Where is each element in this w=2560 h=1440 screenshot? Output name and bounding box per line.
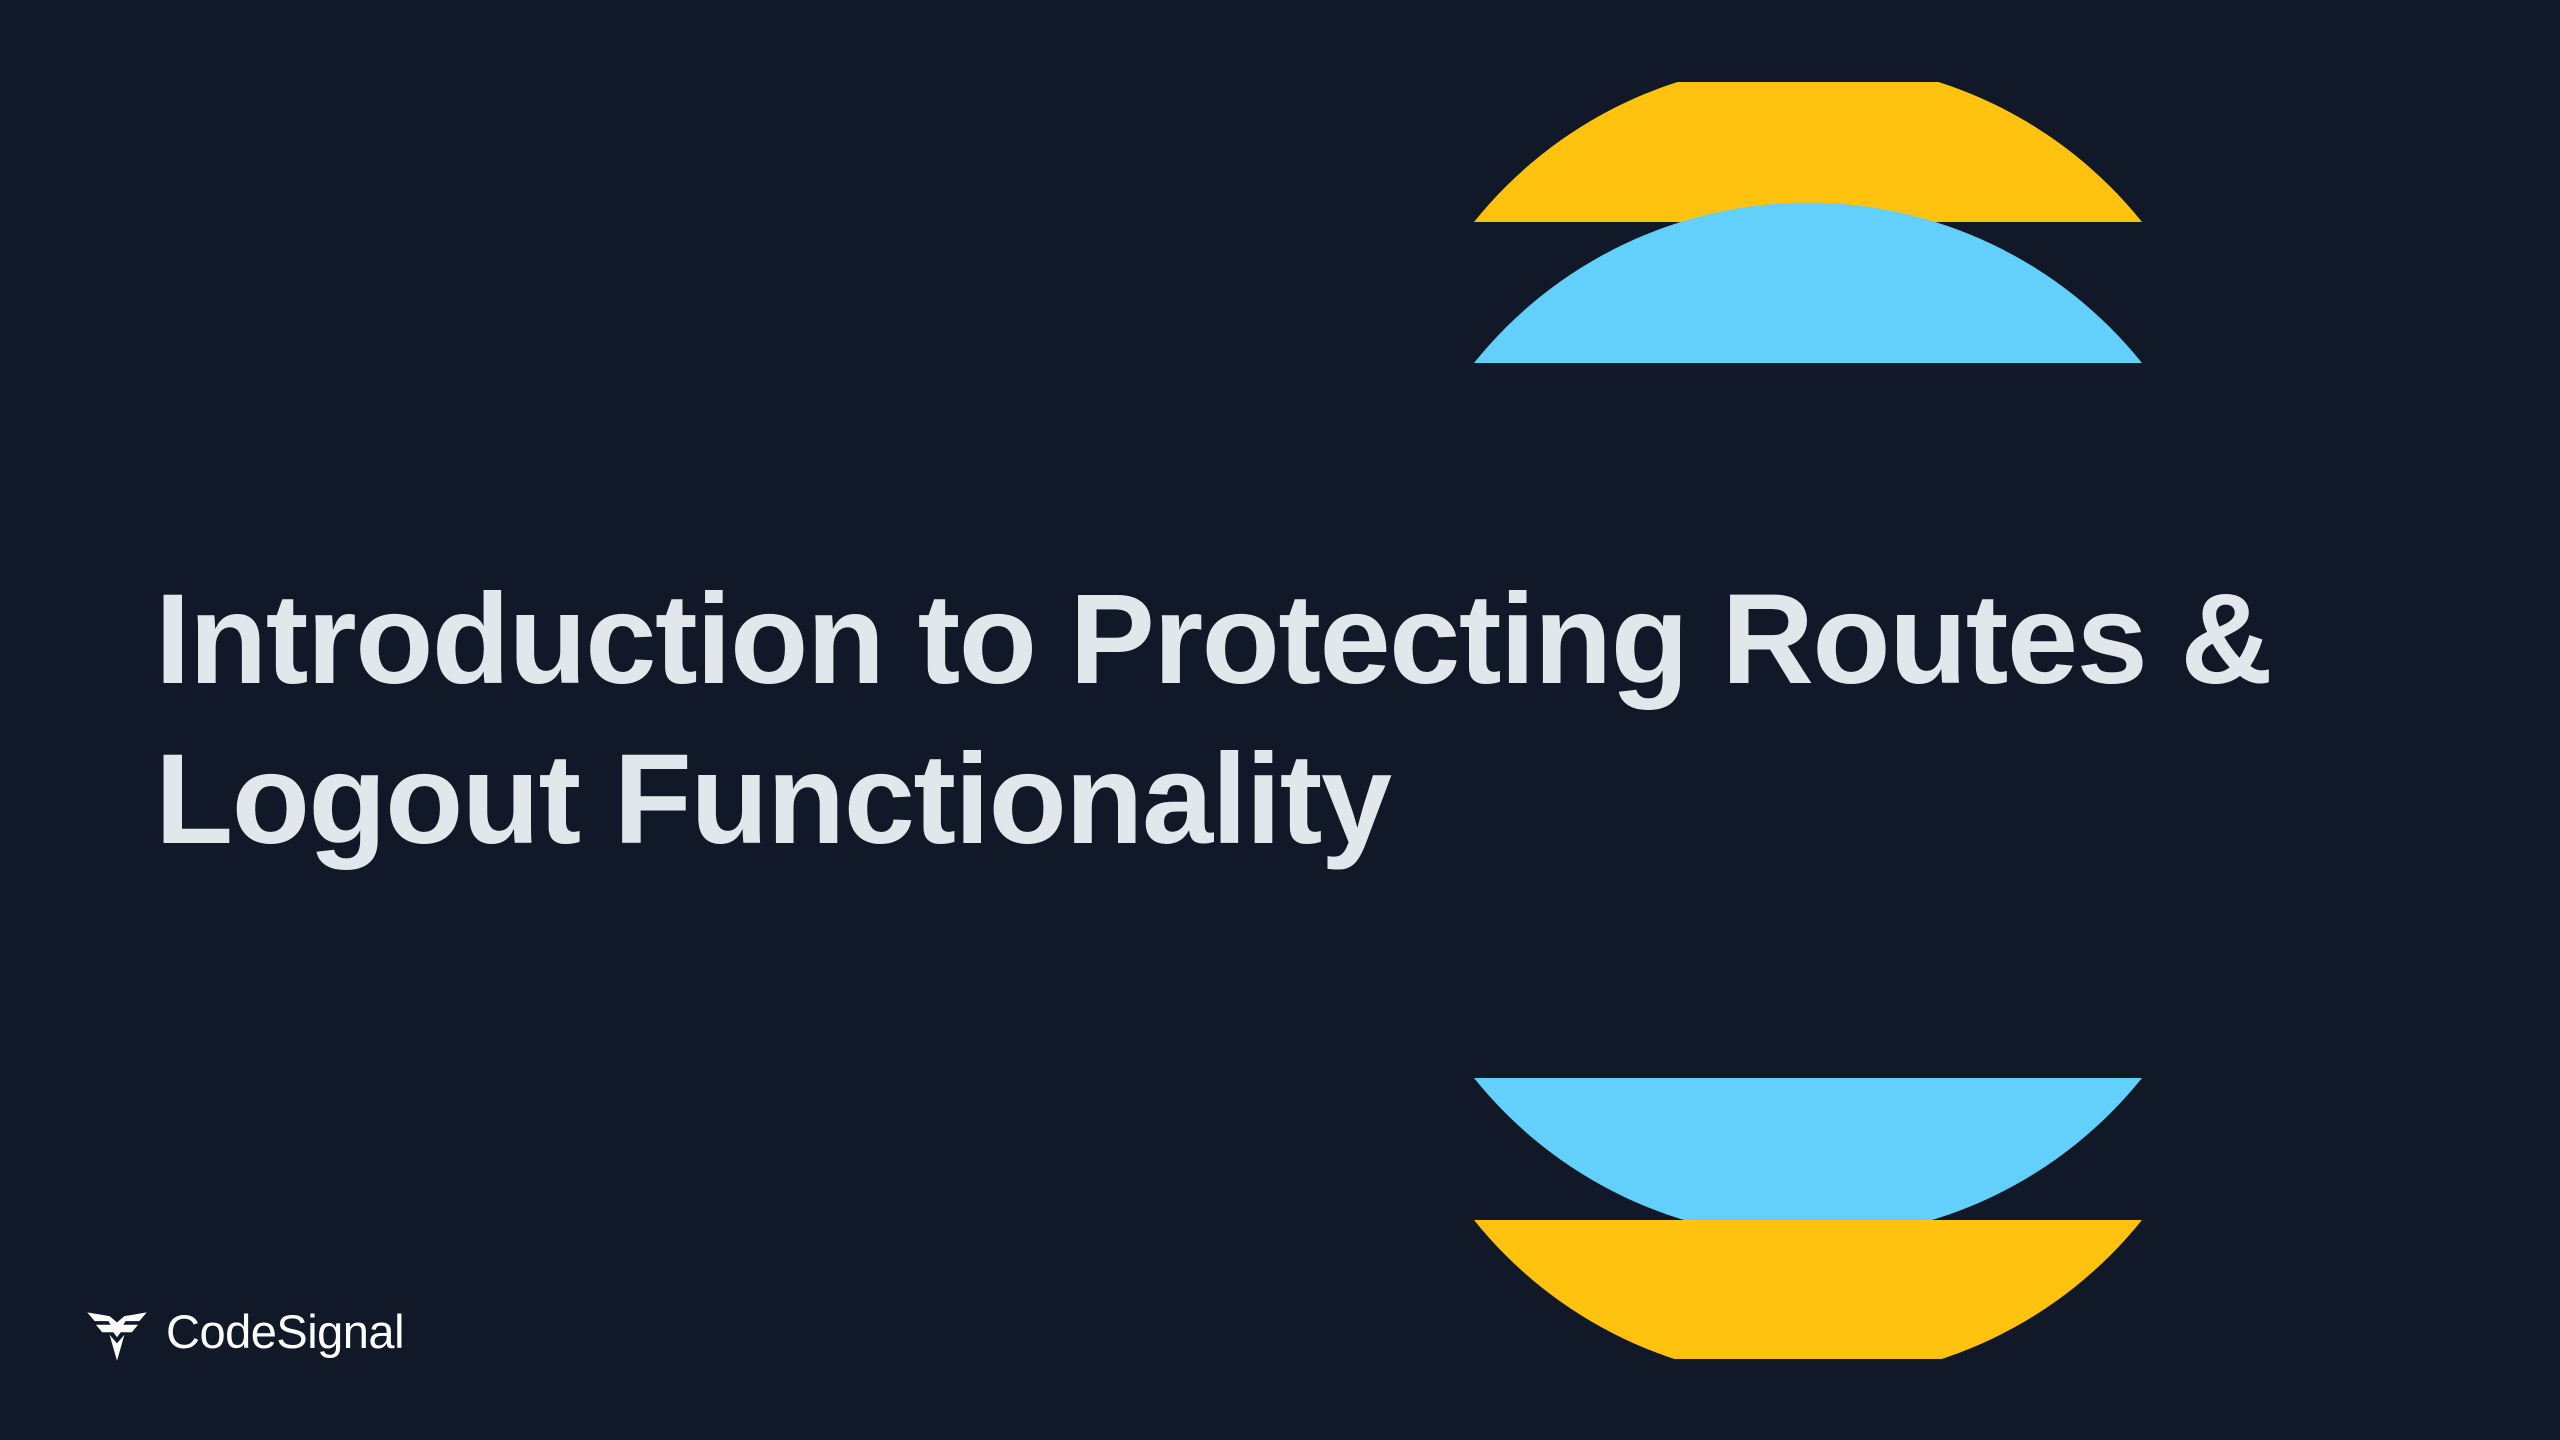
brand-lockup: CodeSignal: [86, 1300, 404, 1362]
title-block: Introduction to Protecting Routes & Logo…: [155, 560, 2335, 880]
blue-bowl-arc: [1474, 1078, 2142, 1238]
yellow-bowl-arc: [1474, 1220, 2142, 1359]
decoration-top-right: [1474, 82, 2142, 364]
decoration-bottom-right: [1474, 1078, 2142, 1359]
codesignal-wings-icon: [86, 1300, 148, 1362]
yellow-dome-arc: [1474, 82, 2142, 222]
slide-title: Introduction to Protecting Routes & Logo…: [155, 560, 2335, 880]
brand-wordmark: CodeSignal: [166, 1308, 404, 1355]
slide-canvas: Introduction to Protecting Routes & Logo…: [0, 0, 2560, 1440]
blue-dome-arc: [1474, 203, 2142, 363]
